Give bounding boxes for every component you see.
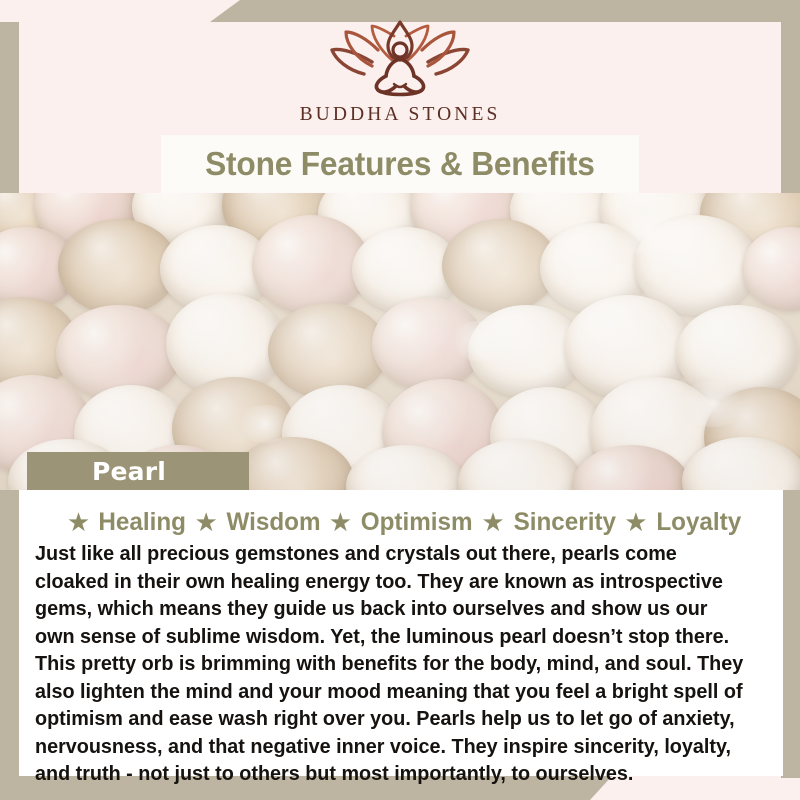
benefit-item-wisdom: ★ Wisdom (187, 508, 321, 537)
star-icon: ★ (481, 509, 504, 535)
description-card: ★ Healing ★ Wisdom ★ Optimism ★ Sincerit… (19, 490, 783, 776)
stone-photo (0, 193, 800, 490)
benefit-label: Healing (99, 508, 187, 537)
benefit-item-optimism: ★ Optimism (322, 508, 475, 537)
benefit-label: Sincerity (513, 508, 615, 537)
benefit-item-sincerity: ★ Sincerity (474, 508, 617, 537)
star-icon: ★ (194, 509, 217, 535)
star-icon: ★ (329, 509, 352, 535)
benefit-label: Wisdom (226, 508, 320, 537)
star-icon: ★ (67, 509, 90, 535)
stone-name-bar: Pearl (27, 452, 249, 490)
stone-name: Pearl (92, 457, 166, 486)
benefit-label: Loyalty (656, 508, 741, 537)
brand-logo: BUDDHA STONES (0, 16, 800, 146)
benefits-list: ★ Healing ★ Wisdom ★ Optimism ★ Sincerit… (19, 508, 783, 537)
description-text: Just like all precious gemstones and cry… (35, 541, 749, 789)
photo-lighting-overlay (0, 193, 800, 490)
page-title: Stone Features & Benefits (205, 145, 595, 183)
poster-root: BUDDHA STONES Stone Features & Benefits (0, 0, 800, 800)
lotus-meditation-figure-icon (316, 16, 484, 100)
header-title-panel: Stone Features & Benefits (162, 136, 638, 192)
benefit-item-loyalty: ★ Loyalty (617, 508, 742, 537)
brand-name: BUDDHA STONES (300, 104, 501, 126)
benefit-label: Optimism (361, 508, 473, 537)
benefit-item-healing: ★ Healing (60, 508, 188, 537)
star-icon: ★ (624, 509, 647, 535)
